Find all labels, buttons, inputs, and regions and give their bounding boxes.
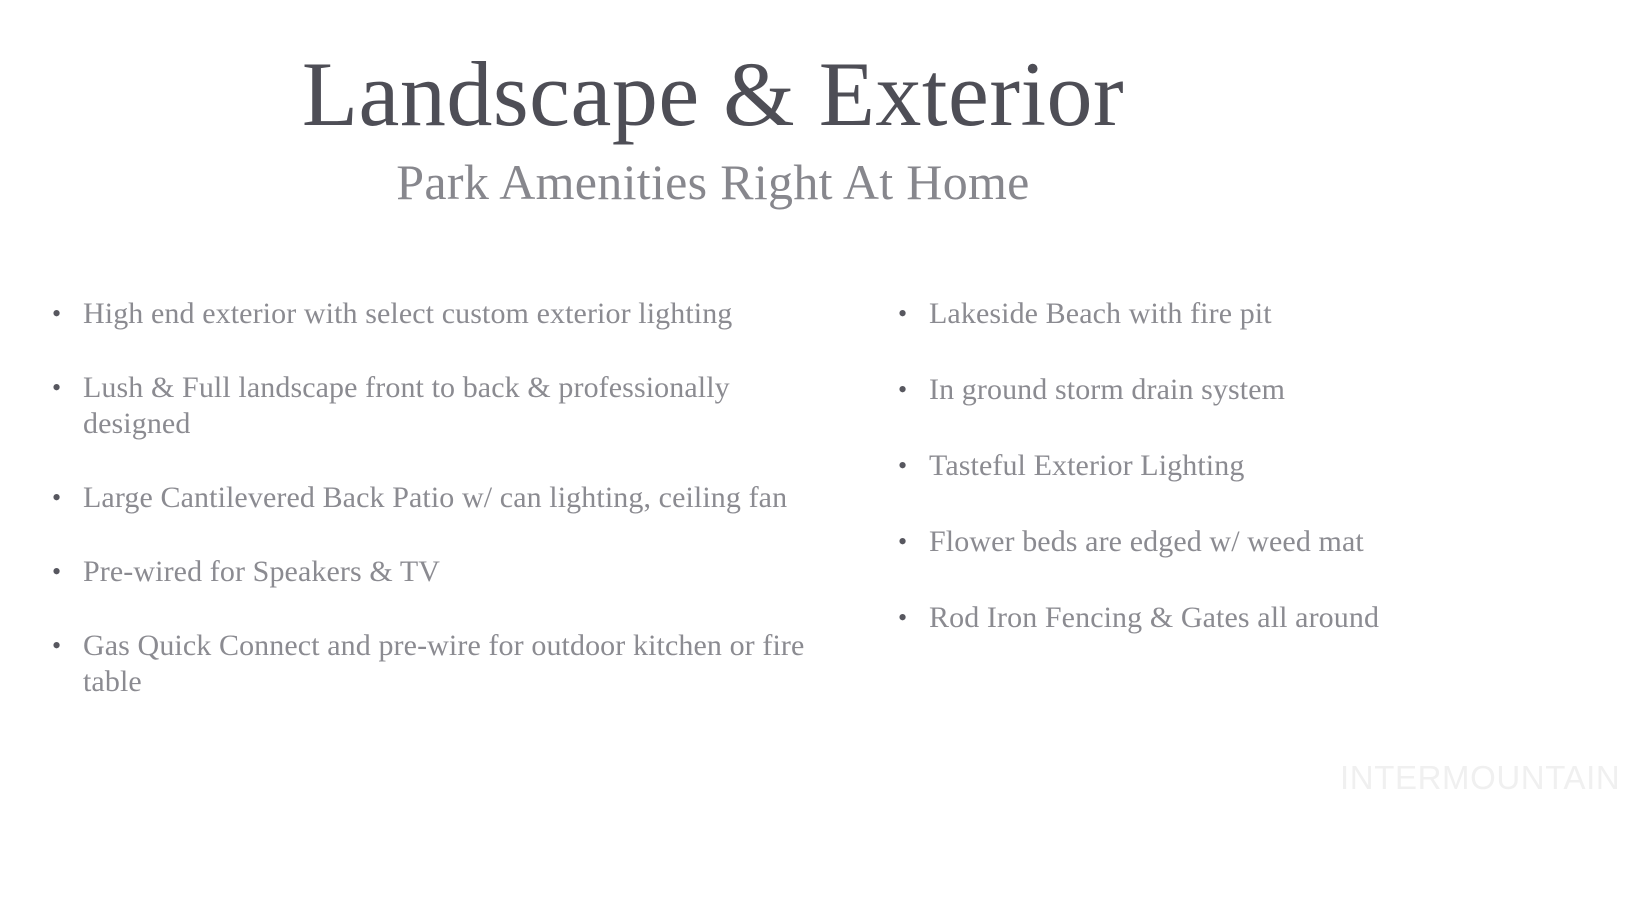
presentation-slide: Landscape & Exterior Park Amenities Righ…	[0, 0, 1632, 916]
right-bullet-text: Rod Iron Fencing & Gates all around	[929, 600, 1449, 636]
list-item: •Flower beds are edged w/ weed mat	[898, 524, 1458, 560]
slide-body: •High end exterior with select custom ex…	[0, 296, 1632, 766]
right-bullet-text: Flower beds are edged w/ weed mat	[929, 524, 1449, 560]
watermark-label: INTERMOUNTAIN	[1340, 758, 1620, 798]
list-item: •Rod Iron Fencing & Gates all around	[898, 600, 1458, 636]
bullet-list-right: •Lakeside Beach with fire pit•In ground …	[898, 296, 1458, 676]
bullet-dot-icon: •	[898, 600, 929, 636]
right-bullet-text: In ground storm drain system	[929, 372, 1449, 408]
left-bullet-text: Gas Quick Connect and pre-wire for outdo…	[83, 628, 843, 700]
bullet-dot-icon: •	[52, 370, 83, 406]
list-item: •In ground storm drain system	[898, 372, 1458, 408]
bullet-dot-icon: •	[52, 480, 83, 516]
left-bullet-text: Pre-wired for Speakers & TV	[83, 554, 843, 590]
list-item: •Lush & Full landscape front to back & p…	[52, 370, 852, 442]
bullet-dot-icon: •	[898, 524, 929, 560]
list-item: •Pre-wired for Speakers & TV	[52, 554, 852, 590]
slide-header: Landscape & Exterior Park Amenities Righ…	[0, 0, 1426, 210]
bullet-dot-icon: •	[52, 554, 83, 590]
list-item: •Tasteful Exterior Lighting	[898, 448, 1458, 484]
list-item: •Large Cantilevered Back Patio w/ can li…	[52, 480, 852, 516]
right-bullet-text: Lakeside Beach with fire pit	[929, 296, 1449, 332]
bullet-dot-icon: •	[52, 628, 83, 664]
page-title: Landscape & Exterior	[0, 0, 1426, 143]
right-bullet-text: Tasteful Exterior Lighting	[929, 448, 1449, 484]
list-item: •Lakeside Beach with fire pit	[898, 296, 1458, 332]
left-bullet-text: High end exterior with select custom ext…	[83, 296, 843, 332]
bullet-dot-icon: •	[898, 372, 929, 408]
bullet-dot-icon: •	[898, 296, 929, 332]
left-bullet-text: Lush & Full landscape front to back & pr…	[83, 370, 843, 442]
page-subtitle: Park Amenities Right At Home	[0, 143, 1426, 210]
list-item: •Gas Quick Connect and pre-wire for outd…	[52, 628, 852, 700]
bullet-dot-icon: •	[52, 296, 83, 332]
left-bullet-text: Large Cantilevered Back Patio w/ can lig…	[83, 480, 843, 516]
bullet-list-left: •High end exterior with select custom ex…	[52, 296, 852, 738]
list-item: •High end exterior with select custom ex…	[52, 296, 852, 332]
bullet-dot-icon: •	[898, 448, 929, 484]
